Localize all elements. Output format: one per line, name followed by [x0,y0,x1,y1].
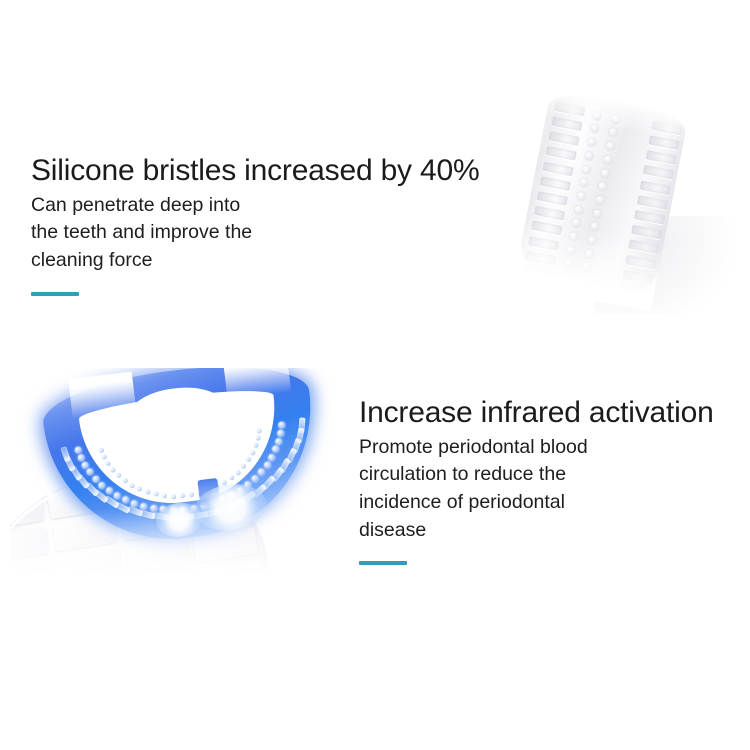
product-image-blue-u-brush-head [10,368,340,593]
bristle-tuft [646,150,677,165]
bristle-tuft [545,146,576,161]
bristle-tuft [543,161,574,176]
base-bottom-fade [10,509,340,593]
bristle-nub [576,192,585,201]
bristle-nub [592,209,601,218]
bristle-nub [600,168,609,177]
bristle-tuft [634,210,665,225]
bristle-nub [597,182,606,191]
bristle-nub [595,195,604,204]
product-feature-page: Silicone bristles increased by 40% Can p… [0,0,750,750]
bristle-tuft [548,131,579,146]
bristle-nub [579,178,588,187]
feature-2-accent-rule [359,561,407,565]
bristle-tuft [537,191,568,206]
bristle-tuft [643,165,674,180]
feature-1-body: Can penetrate deep into the teeth and im… [31,192,479,275]
feature-2-body: Promote periodontal blood circulation to… [359,434,714,545]
feature-1-heading: Silicone bristles increased by 40% [31,154,479,188]
bristle-tuft [640,180,671,195]
bristle-nub [587,138,596,147]
bristle-tuft [540,176,571,191]
bristle-nub [603,155,612,164]
u-brush-tip-fade-left [68,372,136,420]
bristle-nub [574,205,583,214]
u-brush-rib [60,446,71,462]
bristle-nub [581,165,590,174]
feature-2-heading: Increase infrared activation [359,396,714,430]
feature-text-block-2: Increase infrared activation Promote per… [359,396,714,565]
bristle-nub [584,151,593,160]
bristle-nub [605,141,614,150]
bristle-tuft [637,195,668,210]
feature-1-accent-rule [31,292,79,296]
product-image-silicone-bristle-strip [498,88,750,314]
feature-text-block-1: Silicone bristles increased by 40% Can p… [31,154,479,296]
